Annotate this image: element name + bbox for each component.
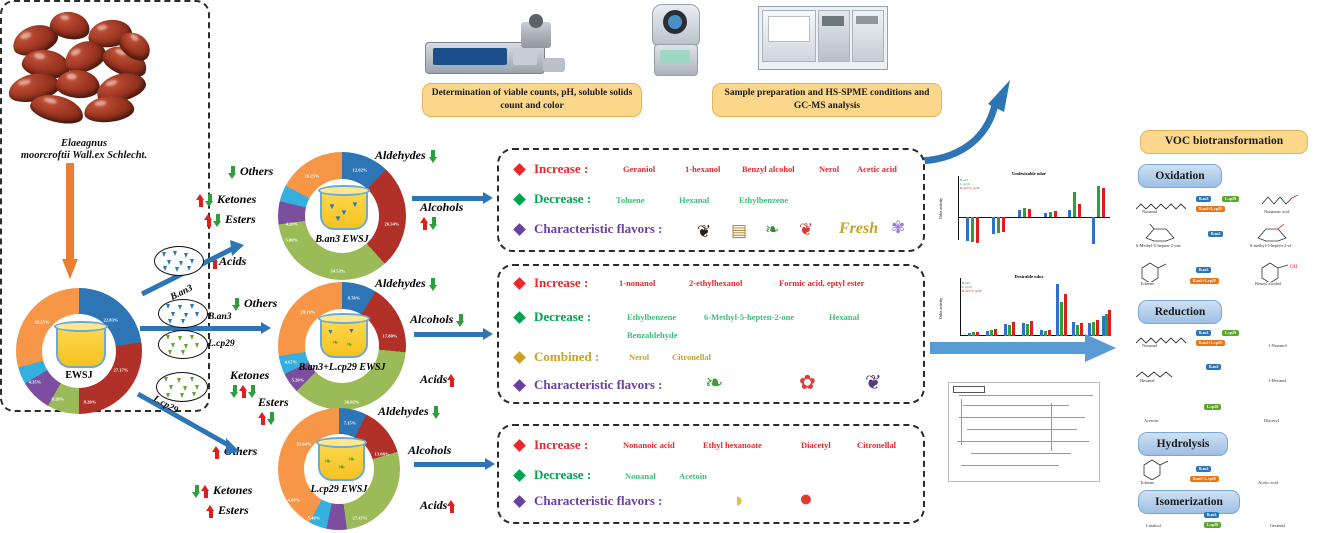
reaction-substrate-chain	[1136, 198, 1190, 204]
diamond-marker-flavors	[513, 495, 526, 508]
reaction-substrate-label: Acetoin	[1144, 418, 1158, 423]
strain-tag-combo: B.an3+L.cp29	[1196, 206, 1225, 212]
petri-dish-combo-ban3	[158, 299, 208, 328]
hydrolysis-label: Hydrolysis	[1157, 438, 1210, 450]
source-to-juice-arrow	[62, 163, 78, 283]
down-arrow-icon	[429, 278, 438, 291]
down-arrow-icon	[456, 314, 465, 327]
label-acids-lcp29: Acids	[420, 498, 456, 513]
connector-arrow-combo-panel	[414, 332, 484, 337]
strain-tag-combo: B.an3+L.cp29	[1190, 278, 1219, 284]
mini-chart-aroma-ylabel: Odor activity	[938, 298, 943, 319]
label-aldehydes-combo: Aldehydes	[375, 276, 438, 291]
label-acids-combo: Acids	[420, 372, 456, 387]
butter-bowl-icon: ◗	[733, 488, 746, 513]
strain-tag-ban3: B.an3	[1204, 512, 1219, 518]
decrease-label: Decrease :	[534, 467, 591, 482]
label-alcohols-lcp29: Alcohols	[408, 443, 451, 458]
svg-text:OH: OH	[1290, 265, 1298, 270]
voc-section-hydrolysis: Hydrolysis	[1138, 432, 1228, 456]
voc-section-reduction: Reduction	[1138, 300, 1222, 324]
species-caption: Elaeagnus moorcroftii Wall.ex Schlecht.	[4, 138, 164, 162]
pct-esters: 8.20%	[52, 397, 65, 402]
pct-aldehydes: 22.83%	[104, 318, 119, 323]
isomerization-label: Isomerization	[1155, 496, 1223, 508]
petri-dish-lcp29	[156, 372, 208, 402]
diamond-marker-flavors	[513, 379, 526, 392]
strain-tag-combo: B.an3+L.cp29	[1190, 476, 1219, 482]
pct-alcohols: 27.17%	[114, 368, 129, 373]
compound-item: Nonanoic acid	[623, 440, 675, 450]
fresh-word-label: Fresh	[839, 220, 878, 238]
up-arrow-icon	[206, 505, 215, 518]
strain-tag-ban3: B.an3	[1196, 267, 1211, 273]
flavors-label: Characteristic flavors :	[534, 377, 663, 392]
pct-others: 29.25%	[35, 320, 50, 325]
reaction-substrate-label: Nonanal	[1142, 209, 1157, 214]
strain-tag-ban3: B.an3	[1206, 364, 1221, 370]
down-arrow-icon	[248, 385, 257, 398]
hydrolysis-substrate-icon	[1138, 458, 1184, 480]
compound-item: Benzyl alcohol	[742, 164, 795, 174]
pct-esters: 5.40%	[308, 516, 321, 521]
compound-item: 6-Methyl-5-hepten-2-one	[704, 312, 794, 322]
pct-ketones: 4.67%	[285, 360, 298, 365]
pct-aldehydes: 7.35%	[344, 421, 357, 426]
up-arrow-icon	[420, 217, 429, 230]
reaction-product-label: Geraniol	[1270, 523, 1285, 528]
compound-item: Toluene	[616, 195, 645, 205]
methods-box-1-label: Determination of viable counts, pH, solu…	[429, 87, 635, 113]
down-arrow-icon	[228, 166, 237, 179]
strain-tag-lcp29: L.cp29	[1222, 196, 1239, 202]
connector-arrow-lcp29-panel	[414, 462, 486, 467]
radish-icon: ❦	[799, 220, 813, 240]
diamond-marker-combined	[513, 351, 526, 364]
diamond-marker-decrease	[513, 469, 526, 482]
strain-tag-lcp29: L.cp29	[1222, 330, 1239, 336]
juice-cup-ewsj	[56, 324, 106, 368]
legend-entry: B.an3+L.cp29	[962, 289, 981, 293]
pct-aldehydes: 12.02%	[353, 168, 368, 173]
inoculation-label-combo-ban3: B.an3	[208, 312, 232, 322]
donut-combo: ▼ ▼ ❧ ❧ B.an3+L.cp29 EWSJ 8.76% 17.80% 3…	[278, 282, 406, 410]
compound-item: Nerol	[629, 352, 649, 362]
up-arrow-icon	[201, 485, 210, 498]
pct-esters: 5.20%	[292, 378, 305, 383]
reaction-product-label: 6-methyl-5-hepten-2-ol	[1250, 243, 1291, 248]
benzene-ring-icon	[1136, 262, 1180, 282]
compound-item: Ethylbenzene	[739, 195, 788, 205]
inoculation-label-combo-lcp29: L.cp29	[208, 339, 235, 349]
down-arrow-icon	[213, 214, 222, 227]
pct-esters: 5.80%	[286, 238, 299, 243]
species-name-line2: moorcroftii Wall.ex Schlecht.	[21, 150, 147, 161]
hexanal-chain-icon	[1136, 366, 1182, 372]
strain-tag-ban3: B.an3	[1196, 196, 1211, 202]
down-arrow-icon	[205, 194, 214, 207]
voc-panel-title: VOC biotransformation	[1140, 130, 1308, 154]
flavors-label: Characteristic flavors :	[534, 493, 663, 508]
down-arrow-icon	[267, 412, 276, 425]
mint-leaf-icon: ❧	[705, 370, 723, 396]
increase-label: Increase :	[534, 437, 588, 452]
pct-others: 19.25%	[305, 174, 320, 179]
down-arrow-icon	[429, 150, 438, 163]
juice-cup-ban3: ▼ ▼ ▼ ▼	[320, 188, 368, 230]
pct-alcohols: 13.08%	[375, 452, 390, 457]
hexanol-structure-icon	[1248, 224, 1314, 242]
pct-acids: 36.02%	[345, 400, 360, 405]
mini-chart-aroma-title: Desirable odor	[948, 274, 1110, 279]
reaction-product-label: Diacetyl	[1264, 418, 1279, 423]
pct-ketones: 4.20%	[286, 222, 299, 227]
compound-item: Ethylbenzene	[627, 312, 676, 322]
connector-arrow-ban3-panel	[412, 196, 484, 201]
petri-dish-combo-lcp29	[158, 330, 208, 359]
flavors-label: Characteristic flavors :	[534, 221, 663, 236]
panel-lcp29: Increase : Nonanoic acid Ethyl hexanoate…	[497, 424, 925, 524]
pct-ketones: 4.80%	[288, 498, 301, 503]
species-name-line1: Elaeagnus	[61, 138, 107, 149]
pct-alcohols: 26.34%	[385, 222, 400, 227]
compound-item: Citronellal	[857, 440, 896, 450]
compound-item: Acetoin	[679, 471, 707, 481]
compound-item: Hexanal	[679, 195, 709, 205]
mini-chart-odor: Undesirable odor Odor activity B.an3 L.c…	[948, 172, 1110, 262]
strain-tag-lcp29: L.cp29	[1204, 404, 1221, 410]
reaction-product-label: 1-Nonanol	[1268, 343, 1287, 348]
diamond-marker-decrease	[513, 193, 526, 206]
down-arrow-icon	[192, 485, 201, 498]
decrease-label: Decrease :	[534, 309, 591, 324]
label-esters-ban3: Esters	[204, 212, 256, 227]
compound-item: 1-nonanol	[619, 278, 655, 288]
strain-tag-ban3: B.an3	[1208, 231, 1223, 237]
voc-section-oxidation: Oxidation	[1138, 164, 1222, 188]
jujube-fruit-photo	[6, 8, 158, 128]
diamond-marker-increase	[513, 277, 526, 290]
reduction-label: Reduction	[1155, 306, 1205, 318]
reaction-substrate-label: Linalool	[1146, 523, 1161, 528]
black-tea-icon: ❦	[697, 222, 711, 242]
donut-lcp29-center-label: L.cp29 EWSJ	[278, 484, 400, 495]
reaction-product-label: Nonanoic acid	[1264, 209, 1289, 214]
voc-section-isomerization-box: Isomerization	[1138, 490, 1240, 514]
rose-flower-icon: ✿	[799, 370, 816, 395]
reaction-product-label: 1-Hexanol	[1268, 378, 1287, 383]
increase-label: Increase :	[534, 161, 588, 176]
reaction-substrate-label: 6-Methyl-5-hepten-2-one	[1136, 243, 1181, 248]
pct-others: 31.64%	[297, 442, 312, 447]
compound-item: 2-ethylhexanol	[689, 278, 742, 288]
label-ketones-lcp29: Ketones	[192, 483, 252, 498]
pct-ketones: 4.35%	[29, 380, 42, 385]
pathway-to-voc-arrow	[930, 332, 1120, 364]
mini-chart-odor-title: Undesirable odor	[948, 171, 1110, 176]
panel-ban3: Increase : Geraniol 1-hexanol Benzyl alc…	[497, 148, 925, 252]
hexene-structure-icon	[1136, 224, 1202, 242]
panel-combo: Increase : 1-nonanol 2-ethylhexanol Form…	[497, 264, 925, 404]
diamond-marker-increase	[513, 439, 526, 452]
lavender-icon: ✾	[891, 218, 905, 238]
label-esters-combo: Esters	[258, 395, 289, 425]
compound-item: Hexanal	[829, 312, 859, 322]
label-aldehydes-lcp29: Aldehydes	[378, 404, 441, 419]
pct-acids: 34.53%	[331, 269, 346, 274]
increase-label: Increase :	[534, 275, 588, 290]
oxidation-label: Oxidation	[1155, 170, 1204, 182]
ring-structure-icon	[1262, 194, 1308, 208]
reaction-substrate-label: Toluene	[1140, 480, 1154, 485]
mini-pathway-diagram	[948, 382, 1100, 482]
up-arrow-icon	[258, 412, 267, 425]
mini-chart-odor-ylabel: Odor activity	[938, 198, 943, 219]
down-arrow-icon	[432, 406, 441, 419]
compound-item: Acetic acid	[857, 164, 897, 174]
pct-alcohols: 17.80%	[383, 334, 398, 339]
legend-entry: B.an3+L.cp29	[960, 186, 979, 190]
up-arrow-icon	[196, 194, 205, 207]
down-arrow-icon	[429, 217, 438, 230]
gc-ms-instrument	[758, 6, 886, 74]
diamond-marker-increase	[513, 163, 526, 176]
reaction-substrate-label: Nonanal	[1142, 343, 1157, 348]
juice-cup-lcp29: ❧ ❧ ❧	[318, 440, 365, 481]
strain-tag-lcp29: L.cp29	[1204, 522, 1221, 528]
label-alcohols-combo: Alcohols	[410, 312, 465, 327]
decrease-label: Decrease :	[534, 191, 591, 206]
compound-item: Geraniol	[623, 164, 655, 174]
benzyl-alcohol-icon: OH	[1256, 262, 1310, 282]
compound-item: Benzaldehyde	[627, 330, 678, 340]
strain-tag-ban3: B.an3	[1196, 330, 1211, 336]
label-ketones-ban3: Ketones	[196, 192, 256, 207]
pct-acids: 8.20%	[84, 400, 97, 405]
compound-item: Citronellal	[672, 352, 711, 362]
apple-fruit-icon: ●	[799, 486, 813, 512]
pct-acids: 27.47%	[353, 516, 368, 521]
juice-cup-combo: ▼ ▼ ❧ ❧	[320, 316, 368, 358]
pct-others: 28.10%	[301, 310, 316, 315]
donut-ewsj: EWSJ 22.83% 27.17% 8.20% 8.20% 4.35% 29.…	[16, 288, 142, 414]
up-arrow-icon	[204, 214, 213, 227]
diamond-marker-flavors	[513, 223, 526, 236]
inoculation-arrow-combo	[140, 326, 262, 331]
compound-item: Formic acid, eptyl ester	[779, 278, 864, 288]
eggplant-vegetable-icon: ❦	[865, 370, 882, 395]
donut-lcp29: ❧ ❧ ❧ L.cp29 EWSJ 7.35% 13.08% 27.47% 5.…	[278, 408, 400, 530]
label-aldehydes-ban3: Aldehydes	[375, 148, 438, 163]
combined-label: Combined :	[534, 349, 599, 364]
label-others-ban3: Others	[228, 164, 273, 179]
donut-ban3: ▼ ▼ ▼ ▼ B.an3 EWSJ 12.02% 26.34% 34.53% …	[278, 152, 406, 280]
pct-aldehydes: 8.76%	[348, 296, 361, 301]
colorimeter-instrument	[425, 18, 565, 76]
reaction-product-label: Acetic acid	[1258, 480, 1278, 485]
compound-item: Ethyl hexanoate	[703, 440, 762, 450]
methods-box-physicochemical: Determination of viable counts, pH, solu…	[422, 83, 642, 117]
petri-dish-ban3-top	[154, 246, 204, 276]
label-esters-lcp29: Esters	[206, 503, 249, 518]
refractometer-instrument	[648, 4, 702, 78]
up-arrow-icon	[447, 500, 456, 513]
wood-log-icon: ▤	[731, 221, 747, 241]
label-alcohols-ban3: Alcohols	[420, 200, 463, 230]
voc-title-label: VOC biotransformation	[1165, 134, 1283, 150]
up-arrow-icon	[447, 374, 456, 387]
diamond-marker-decrease	[513, 311, 526, 324]
strain-tag-combo: B.an3+L.cp29	[1196, 340, 1225, 346]
compound-item: Diacetyl	[801, 440, 831, 450]
compound-item: Nonanal	[625, 471, 656, 481]
compound-item: 1-hexanol	[685, 164, 720, 174]
herb-leaf-icon: ❧	[765, 220, 779, 240]
strain-tag-ban3: B.an3	[1196, 466, 1211, 472]
compound-item: Nerol	[819, 164, 839, 174]
reduction-substrate-chain	[1136, 332, 1190, 338]
